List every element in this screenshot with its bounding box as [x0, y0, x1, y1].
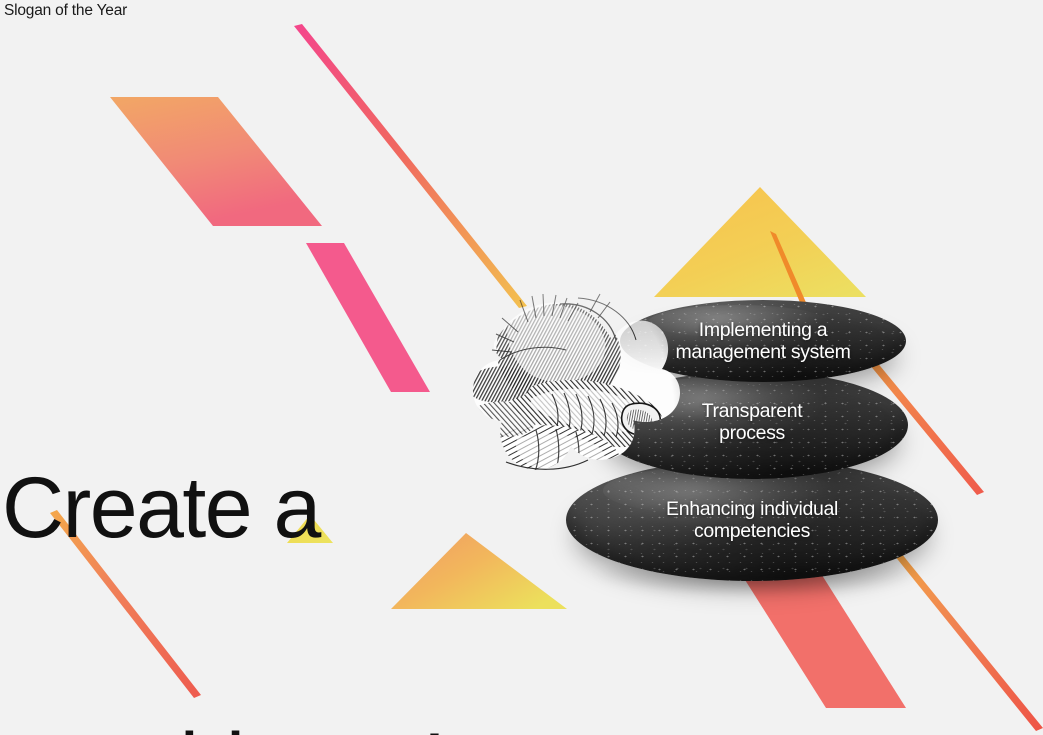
- orange-pink-parallelogram: [110, 97, 322, 226]
- page-title: Slogan of the Year: [4, 2, 127, 20]
- stone-middle-label: Transparent process: [596, 401, 908, 445]
- stone-top[interactable]: Implementing a management system: [620, 300, 906, 382]
- slogan-poster: Slogan of the Year: [0, 0, 1043, 735]
- yellow-triangle: [654, 187, 866, 297]
- headline-line-1: Create a: [2, 466, 445, 551]
- headline: Create a new history!: [2, 296, 445, 735]
- stone-bottom-label: Enhancing individual competencies: [566, 499, 938, 543]
- headline-line-2: new history!: [2, 722, 445, 735]
- stone-top-label: Implementing a management system: [620, 320, 906, 364]
- pink-yellow-diagonal-line: [294, 24, 527, 308]
- stone-middle[interactable]: Transparent process: [596, 371, 908, 479]
